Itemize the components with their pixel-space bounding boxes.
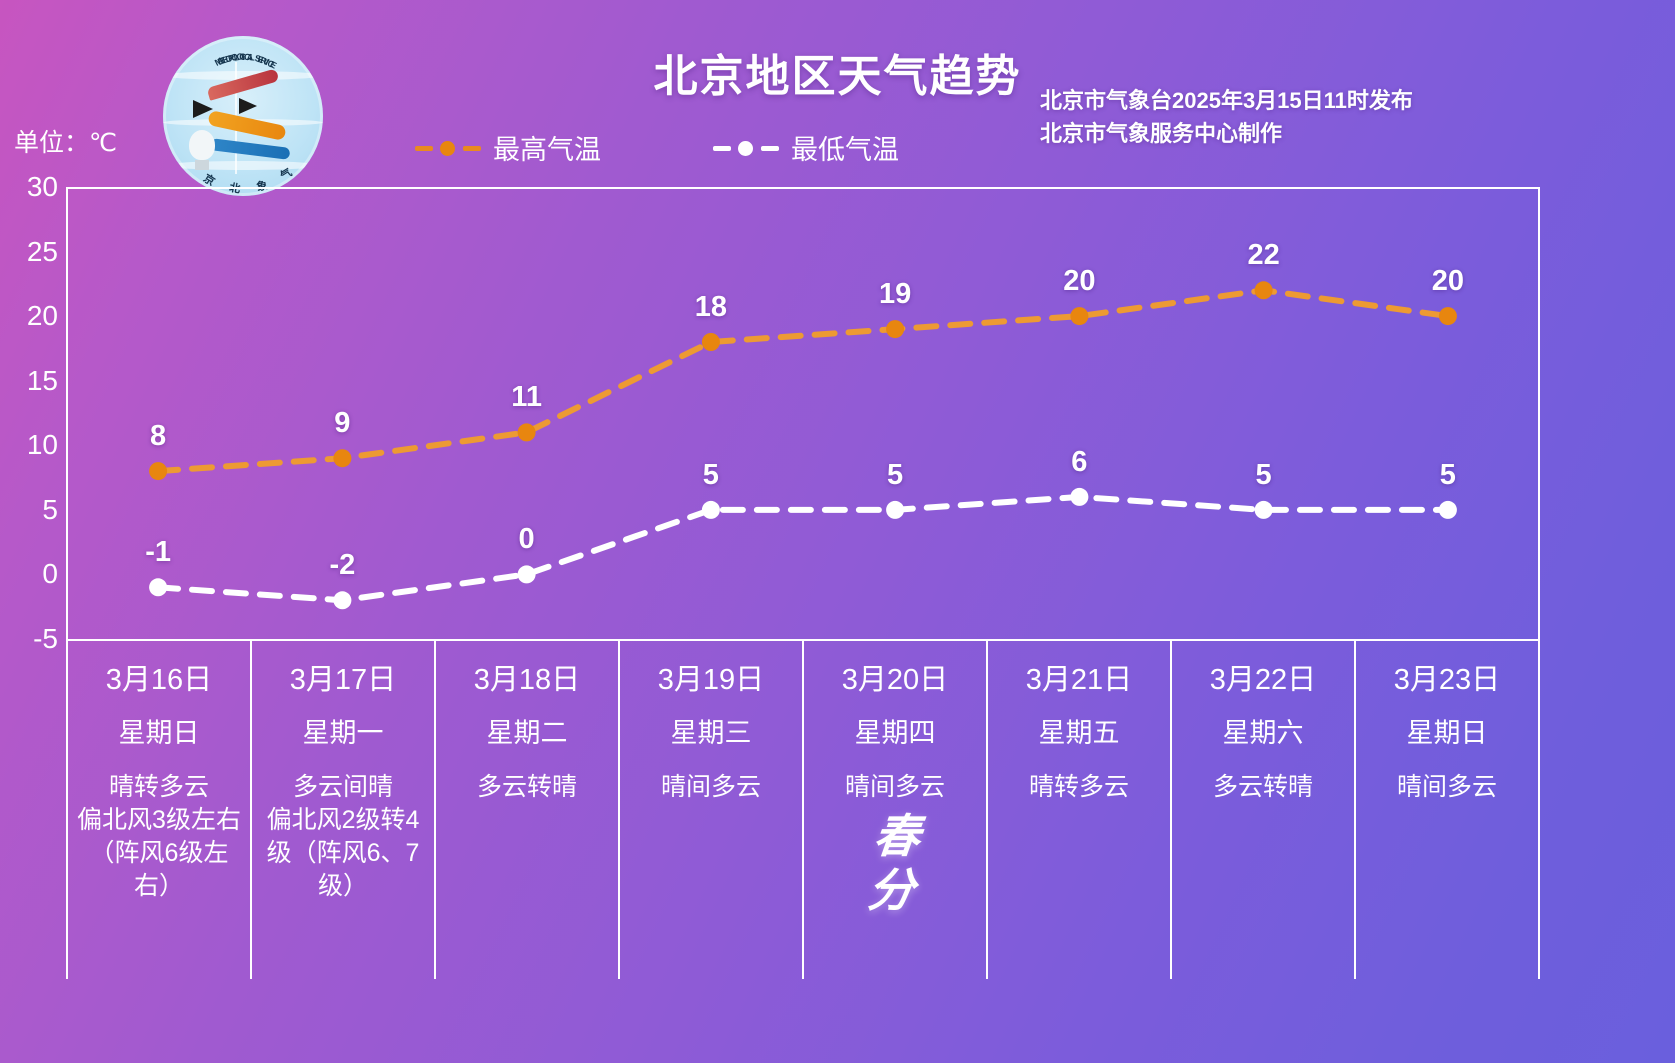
- data-point-value-label: 5: [1440, 459, 1456, 492]
- forecast-sky-condition: 多云间晴: [260, 771, 426, 804]
- legend-label-high: 最高气温: [493, 128, 601, 167]
- solar-term-calligraphy: 春分: [798, 809, 991, 917]
- forecast-weekday: 星期日: [1364, 713, 1530, 753]
- forecast-column[interactable]: 3月20日星期四晴间多云春分: [804, 641, 988, 979]
- page-title: 北京地区天气趋势: [0, 40, 1675, 104]
- forecast-weekday: 星期二: [444, 713, 610, 753]
- forecast-date: 3月23日: [1364, 659, 1530, 701]
- forecast-table: 3月16日星期日晴转多云偏北风3级左右（阵风6级左右）3月17日星期一多云间晴偏…: [66, 639, 1540, 979]
- data-point-marker[interactable]: [886, 320, 904, 338]
- y-axis-tick: 25: [0, 236, 58, 268]
- data-point-value-label: -2: [329, 549, 355, 582]
- temperature-line-chart: [66, 187, 1540, 639]
- data-point-value-label: 20: [1063, 265, 1095, 298]
- forecast-date: 3月18日: [444, 659, 610, 701]
- data-point-marker[interactable]: [518, 565, 536, 583]
- data-point-marker[interactable]: [886, 501, 904, 519]
- forecast-sky-condition: 晴转多云: [76, 771, 242, 804]
- y-axis-tick: 5: [0, 494, 58, 526]
- publisher-line-1: 北京市气象台2025年3月15日11时发布: [1040, 84, 1413, 117]
- forecast-weekday: 星期日: [76, 713, 242, 753]
- data-point-marker[interactable]: [1439, 501, 1457, 519]
- forecast-date: 3月17日: [260, 659, 426, 701]
- data-point-value-label: 19: [879, 278, 911, 311]
- chart-legend: 最高气温 最低气温: [415, 128, 899, 167]
- data-point-marker[interactable]: [702, 333, 720, 351]
- forecast-column[interactable]: 3月17日星期一多云间晴偏北风2级转4级（阵风6、7级）: [252, 641, 436, 979]
- data-point-value-label: 5: [703, 459, 719, 492]
- data-point-value-label: 11: [511, 381, 542, 414]
- forecast-date: 3月16日: [76, 659, 242, 701]
- series-line-high: [158, 290, 1448, 471]
- weather-trend-poster: METEOROLOGICAL SERVICE气象北京 北京地区天气趋势 北京市气…: [0, 0, 1675, 1063]
- forecast-sky-condition: 晴间多云: [1364, 771, 1530, 804]
- data-point-value-label: 5: [1256, 459, 1272, 492]
- legend-marker-high-icon: [415, 139, 481, 157]
- legend-item-high-temperature[interactable]: 最高气温: [415, 128, 601, 167]
- publisher-info: 北京市气象台2025年3月15日11时发布 北京市气象服务中心制作: [1040, 84, 1413, 150]
- forecast-sky-condition: 多云转晴: [444, 771, 610, 804]
- data-point-marker[interactable]: [1070, 307, 1088, 325]
- forecast-column[interactable]: 3月23日星期日晴间多云: [1356, 641, 1540, 979]
- data-point-marker[interactable]: [1070, 488, 1088, 506]
- data-point-marker[interactable]: [333, 449, 351, 467]
- forecast-date: 3月21日: [996, 659, 1162, 701]
- forecast-column[interactable]: 3月21日星期五晴转多云: [988, 641, 1172, 979]
- legend-marker-low-icon: [713, 139, 779, 157]
- forecast-weekday: 星期三: [628, 713, 794, 753]
- forecast-sky-condition: 晴转多云: [996, 771, 1162, 804]
- forecast-date: 3月19日: [628, 659, 794, 701]
- y-axis-tick: 10: [0, 429, 58, 461]
- unit-label: 单位：℃: [14, 123, 117, 159]
- data-point-marker[interactable]: [149, 462, 167, 480]
- data-point-value-label: 22: [1247, 239, 1279, 272]
- forecast-weekday: 星期五: [996, 713, 1162, 753]
- data-point-value-label: 0: [519, 523, 535, 556]
- y-axis-tick: -5: [0, 623, 58, 655]
- data-point-marker[interactable]: [1255, 501, 1273, 519]
- data-point-marker[interactable]: [1439, 307, 1457, 325]
- forecast-sky-condition: 晴间多云: [628, 771, 794, 804]
- forecast-column[interactable]: 3月22日星期六多云转晴: [1172, 641, 1356, 979]
- data-point-value-label: 9: [334, 407, 350, 440]
- forecast-column[interactable]: 3月16日星期日晴转多云偏北风3级左右（阵风6级左右）: [66, 641, 252, 979]
- data-point-marker[interactable]: [518, 423, 536, 441]
- forecast-sky-condition: 多云转晴: [1180, 771, 1346, 804]
- forecast-wind: 偏北风3级左右（阵风6级左右）: [76, 804, 242, 903]
- forecast-weekday: 星期六: [1180, 713, 1346, 753]
- data-point-marker[interactable]: [149, 578, 167, 596]
- y-axis-tick: 15: [0, 365, 58, 397]
- data-point-value-label: 8: [150, 420, 166, 453]
- data-point-value-label: 5: [887, 459, 903, 492]
- data-point-marker[interactable]: [702, 501, 720, 519]
- forecast-weekday: 星期一: [260, 713, 426, 753]
- publisher-line-2: 北京市气象服务中心制作: [1040, 117, 1413, 150]
- data-point-value-label: 6: [1071, 446, 1087, 479]
- y-axis-tick: 30: [0, 171, 58, 203]
- data-point-marker[interactable]: [1255, 281, 1273, 299]
- y-axis-tick: 0: [0, 558, 58, 590]
- legend-label-low: 最低气温: [791, 128, 899, 167]
- forecast-wind: 偏北风2级转4级（阵风6、7级）: [260, 804, 426, 903]
- forecast-weekday: 星期四: [812, 713, 978, 753]
- data-point-value-label: 18: [695, 291, 727, 324]
- forecast-sky-condition: 晴间多云: [812, 771, 978, 804]
- data-point-marker[interactable]: [333, 591, 351, 609]
- legend-item-low-temperature[interactable]: 最低气温: [713, 128, 899, 167]
- forecast-date: 3月20日: [812, 659, 978, 701]
- y-axis: 302520151050-5: [0, 170, 58, 650]
- data-point-value-label: 20: [1432, 265, 1464, 298]
- data-point-value-label: -1: [145, 536, 171, 569]
- y-axis-tick: 20: [0, 300, 58, 332]
- forecast-column[interactable]: 3月19日星期三晴间多云: [620, 641, 804, 979]
- forecast-date: 3月22日: [1180, 659, 1346, 701]
- forecast-column[interactable]: 3月18日星期二多云转晴: [436, 641, 620, 979]
